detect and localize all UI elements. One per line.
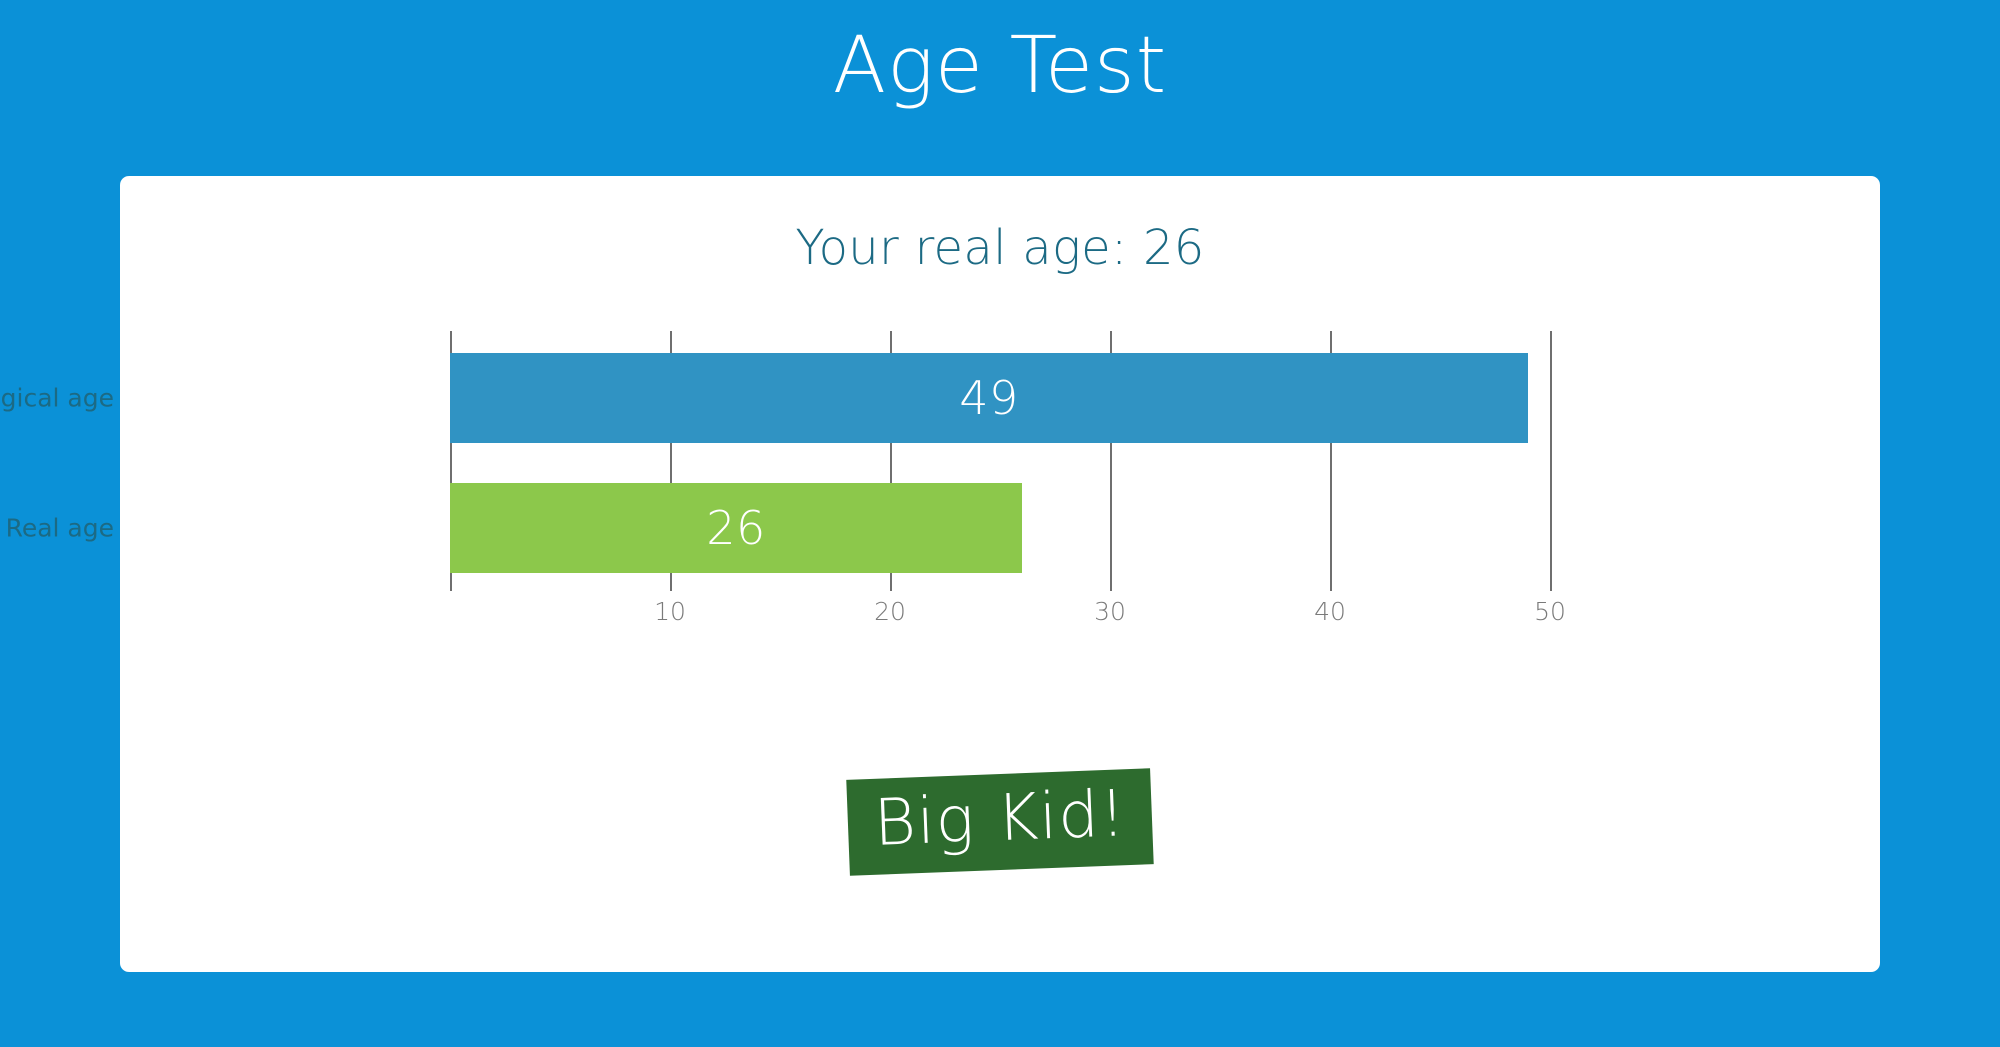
chart-category-label: Chronological age <box>0 386 114 411</box>
age-comparison-bar-chart: 49Chronological age26Real age1020304050 <box>120 331 1880 591</box>
chart-plot-area: 49Chronological age26Real age1020304050 <box>450 331 1550 591</box>
chart-bar-row[interactable]: 26 <box>450 483 1022 573</box>
chart-x-tick-label: 50 <box>1534 597 1566 626</box>
chart-x-tick-label: 10 <box>654 597 686 626</box>
real-age-summary: Your real age: 26 <box>120 220 1880 276</box>
chart-category-label: Real age <box>6 516 114 541</box>
page-title: Age Test <box>0 18 2000 116</box>
verdict-badge: Big Kid! <box>846 768 1154 876</box>
chart-x-tick-label: 40 <box>1314 597 1346 626</box>
chart-x-tick-label: 30 <box>1094 597 1126 626</box>
chart-gridline <box>1550 331 1552 591</box>
chart-bar-row[interactable]: 49 <box>450 353 1528 443</box>
chart-x-tick-label: 20 <box>874 597 906 626</box>
verdict-container: Big Kid! <box>120 774 1880 870</box>
result-card: Your real age: 26 49Chronological age26R… <box>120 176 1880 972</box>
chart-bar[interactable] <box>450 483 1022 573</box>
chart-bar[interactable] <box>450 353 1528 443</box>
